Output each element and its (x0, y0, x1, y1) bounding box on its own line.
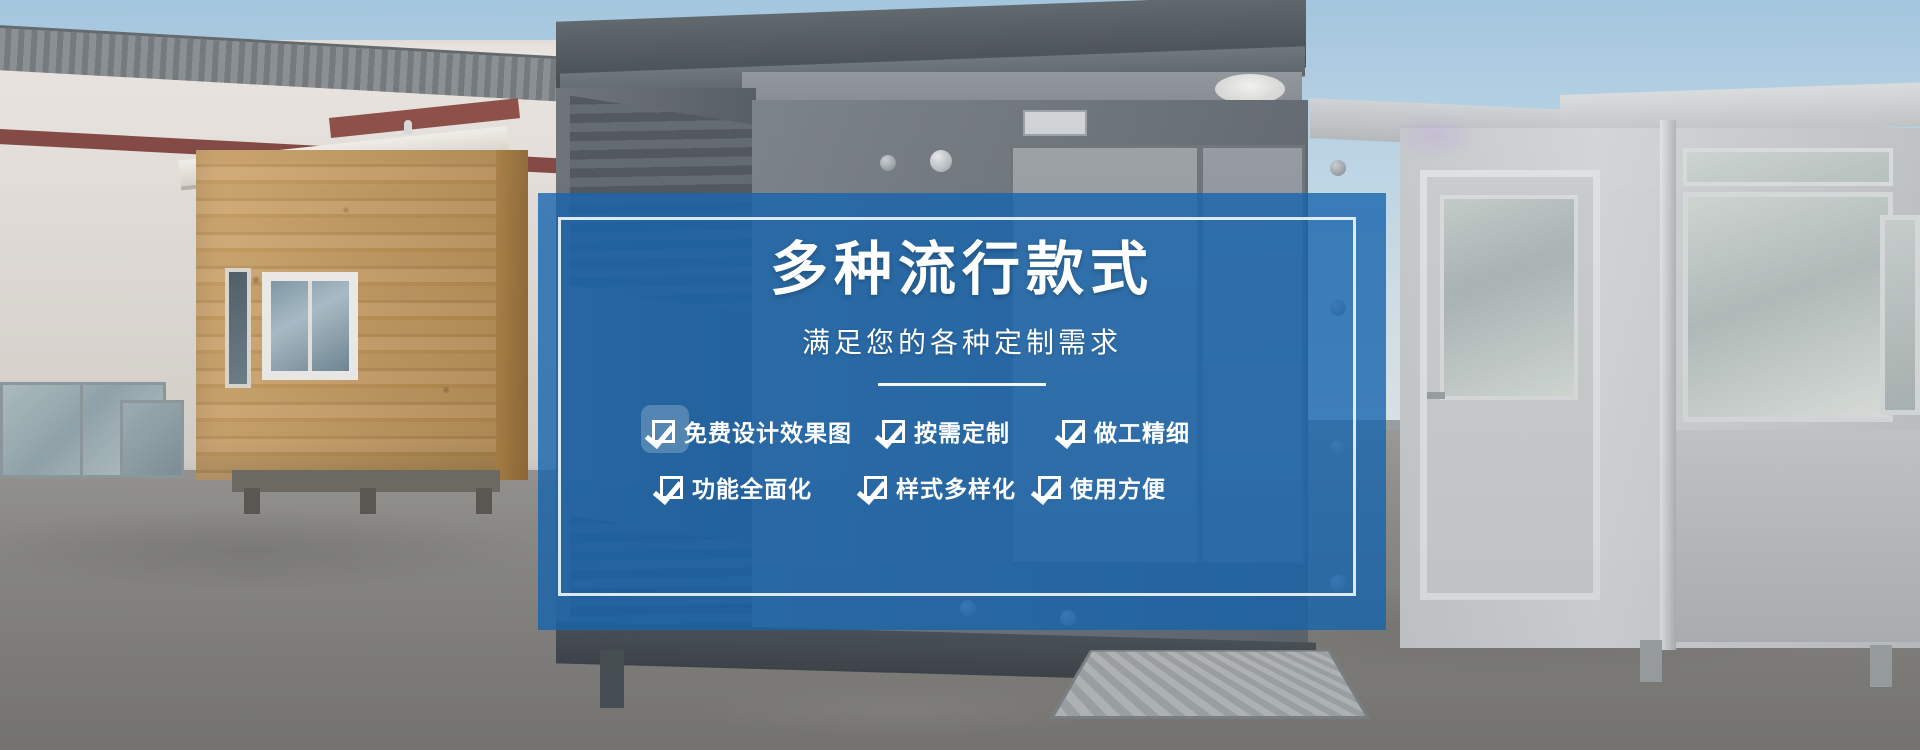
banner-stage: 多种流行款式 满足您的各种定制需求 免费设计效果图 按需定制 (0, 0, 1920, 750)
feature-label: 免费设计效果图 (684, 414, 852, 448)
checkbox-checked-icon (882, 420, 905, 443)
checkbox-checked-icon (1038, 476, 1061, 499)
feature-row: 功能全面化 样式多样化 使用方便 (652, 470, 1272, 504)
feature-label: 使用方便 (1070, 470, 1166, 504)
feature-row: 免费设计效果图 按需定制 做工精细 (652, 414, 1272, 448)
feature-list: 免费设计效果图 按需定制 做工精细 (652, 414, 1272, 504)
feature-label: 做工精细 (1094, 414, 1190, 448)
feature-item-free-design[interactable]: 免费设计效果图 (652, 414, 852, 448)
promo-overlay-panel: 多种流行款式 满足您的各种定制需求 免费设计效果图 按需定制 (538, 193, 1386, 630)
banner-subtitle: 满足您的各种定制需求 (802, 329, 1122, 357)
checkbox-checked-icon (1062, 420, 1085, 443)
feature-item-easy-to-use[interactable]: 使用方便 (1038, 470, 1166, 504)
feature-item-custom-made[interactable]: 按需定制 (882, 414, 1010, 448)
title-divider (878, 383, 1046, 386)
feature-label: 功能全面化 (692, 470, 812, 504)
feature-item-full-function[interactable]: 功能全面化 (660, 470, 812, 504)
feature-label: 按需定制 (914, 414, 1010, 448)
feature-label: 样式多样化 (896, 470, 1016, 504)
checkbox-checked-icon (660, 476, 683, 499)
checkbox-checked-icon (652, 420, 675, 443)
overlay-content: 多种流行款式 满足您的各种定制需求 免费设计效果图 按需定制 (538, 193, 1386, 630)
checkbox-checked-icon (864, 476, 887, 499)
banner-title: 多种流行款式 (770, 241, 1154, 299)
feature-item-varied-styles[interactable]: 样式多样化 (864, 470, 1016, 504)
feature-item-fine-workmanship[interactable]: 做工精细 (1062, 414, 1190, 448)
